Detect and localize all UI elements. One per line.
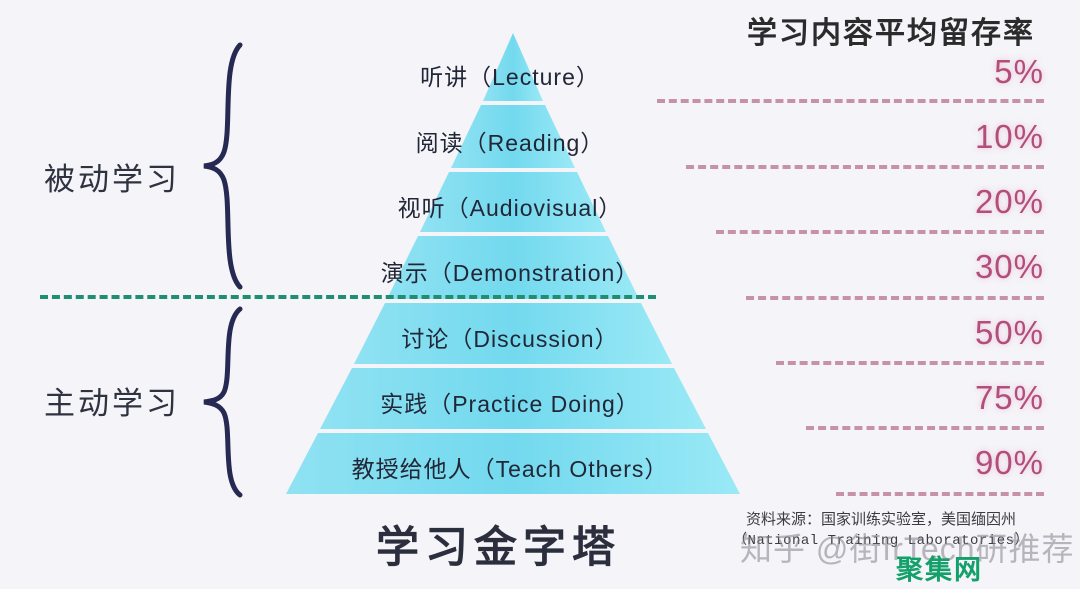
retention-value-4: 30%: [975, 248, 1044, 286]
retention-divider-3: [716, 230, 1044, 234]
passive-active-divider: [40, 295, 656, 299]
pyramid-row-label-5: 讨论（Discussion）: [401, 320, 618, 354]
pyramid-row-label-4: 演示（Demonstration）: [381, 254, 640, 288]
source-text-cn: 资料来源：国家训练实验室，美国缅因州: [686, 508, 1076, 531]
retention-value-5: 50%: [975, 314, 1044, 352]
page-title: 学习金字塔: [376, 513, 621, 575]
retention-divider-2: [686, 165, 1044, 169]
retention-divider-4: [746, 296, 1044, 300]
brace-active-icon: [198, 306, 248, 498]
source-attribution: 资料来源：国家训练实验室，美国缅因州 （National Training La…: [686, 508, 1076, 553]
pyramid-row-label-3: 视听（Audiovisual）: [398, 189, 623, 223]
pyramid-row-label-6: 实践（Practice Doing）: [380, 385, 640, 419]
retention-divider-7: [836, 492, 1044, 496]
brace-passive-icon: [198, 42, 248, 290]
retention-rate-header: 学习内容平均留存率: [736, 8, 1046, 52]
retention-value-6: 75%: [975, 379, 1044, 417]
retention-divider-5: [776, 361, 1044, 365]
source-text-en: （National Training Laboratories）: [686, 531, 1076, 553]
retention-value-1: 5%: [994, 53, 1044, 91]
watermark-site: 聚集网: [896, 548, 983, 587]
retention-divider-6: [806, 426, 1044, 430]
retention-value-2: 10%: [975, 118, 1044, 156]
category-label-passive: 被动学习: [44, 154, 180, 199]
retention-value-3: 20%: [975, 183, 1044, 221]
pyramid-row-label-1: 听讲（Lecture）: [420, 58, 600, 92]
retention-value-7: 90%: [975, 444, 1044, 482]
retention-divider-1: [657, 99, 1044, 103]
category-label-active: 主动学习: [44, 378, 180, 423]
learning-pyramid-infographic: 被动学习 主动学习 听讲（Lecture） 阅读（Reading） 视听（Aud…: [0, 0, 1080, 589]
pyramid-row-label-7: 教授给他人（Teach Others）: [352, 450, 669, 484]
pyramid-row-label-2: 阅读（Reading）: [416, 124, 605, 158]
